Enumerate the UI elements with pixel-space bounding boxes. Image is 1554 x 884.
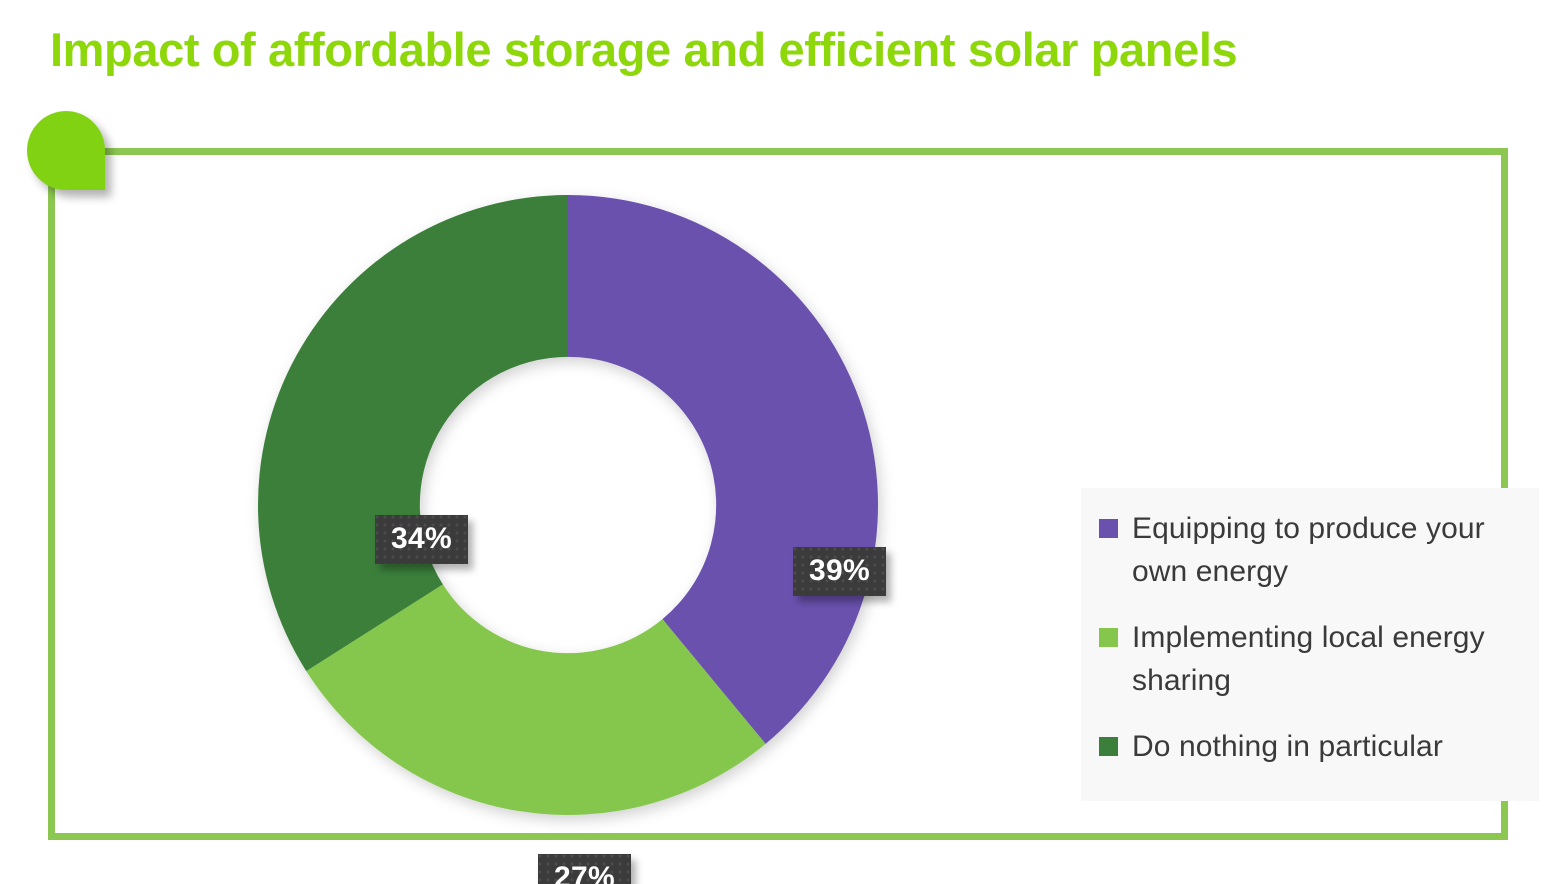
legend-item-do-nothing[interactable]: Do nothing in particular	[1099, 726, 1525, 769]
donut-chart	[258, 195, 878, 815]
donut-chart-svg	[258, 195, 878, 815]
chart-area: 39% 27% 34% Equipping to produce your ow…	[48, 148, 1508, 840]
data-label-slice-1: 27%	[538, 854, 631, 884]
legend-swatch-icon-1	[1099, 628, 1118, 647]
slide-canvas: Impact of affordable storage and efficie…	[0, 0, 1554, 884]
legend-item-label-2: Do nothing in particular	[1132, 726, 1443, 769]
legend-swatch-icon-2	[1099, 737, 1118, 756]
donut-slice-group	[258, 195, 878, 815]
legend-swatch-icon-0	[1099, 519, 1118, 538]
data-label-slice-2: 34%	[375, 515, 468, 564]
data-label-slice-0: 39%	[793, 547, 886, 596]
donut-slice-2[interactable]	[258, 195, 568, 671]
legend-item-label-1: Implementing local energy sharing	[1132, 617, 1525, 702]
legend-item-label-0: Equipping to produce your own energy	[1132, 508, 1525, 593]
legend-item-implementing[interactable]: Implementing local energy sharing	[1099, 617, 1525, 702]
legend-item-equipping[interactable]: Equipping to produce your own energy	[1099, 508, 1525, 593]
chart-legend: Equipping to produce your own energy Imp…	[1081, 488, 1539, 801]
page-title: Impact of affordable storage and efficie…	[50, 24, 1510, 77]
